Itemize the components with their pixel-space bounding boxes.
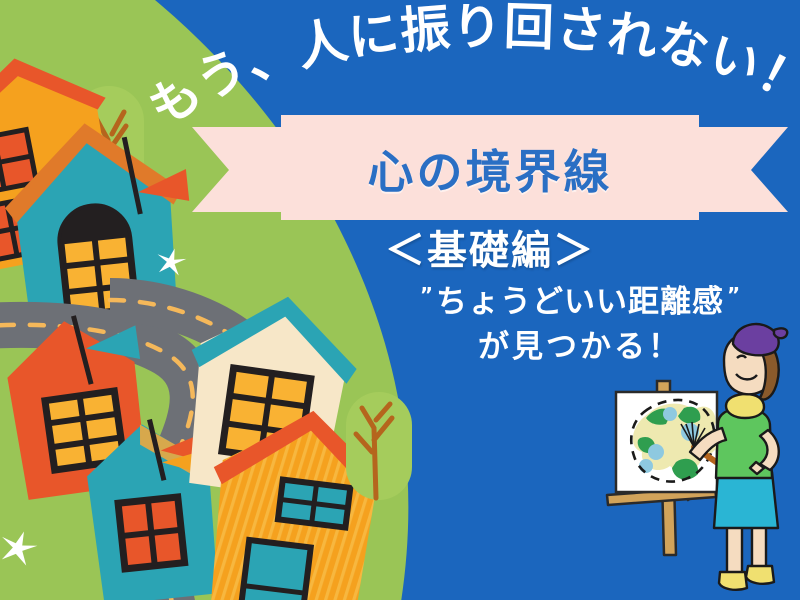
tagline-line-1: ”ちょうどいい距離感” (360, 282, 800, 323)
tagline: ”ちょうどいい距離感” が見つかる！ (360, 282, 800, 368)
tagline-line-2: が見つかる！ (360, 327, 800, 368)
house-cream (173, 285, 365, 504)
easel-peg (657, 381, 670, 395)
tree-lower (346, 392, 412, 500)
house-teal-arched (0, 113, 202, 339)
paintbrush (681, 422, 722, 466)
canvas-painting (631, 400, 718, 482)
house-redorange (0, 308, 157, 501)
tagline-line-1-text: ちょうどいい距離感 (436, 284, 724, 320)
poster-canvas: もう、人に振り回されない！ 心の境界線 ＜基礎編＞ ”ちょうどいい距離感” が見… (0, 0, 800, 600)
house-teal-lower (82, 414, 224, 600)
quote-open: ” (417, 283, 436, 307)
quote-close: ” (724, 283, 743, 307)
winding-road (0, 300, 305, 600)
tree-upper (74, 86, 144, 218)
house-striped-orange (194, 400, 394, 600)
house-orange-topleft (0, 6, 134, 275)
subtitle: ＜基礎編＞ (190, 218, 790, 276)
star-flowers (0, 245, 188, 570)
easel-tripod (607, 403, 716, 555)
easel-canvas (616, 392, 718, 492)
ribbon-title: 心の境界線 (185, 128, 795, 210)
